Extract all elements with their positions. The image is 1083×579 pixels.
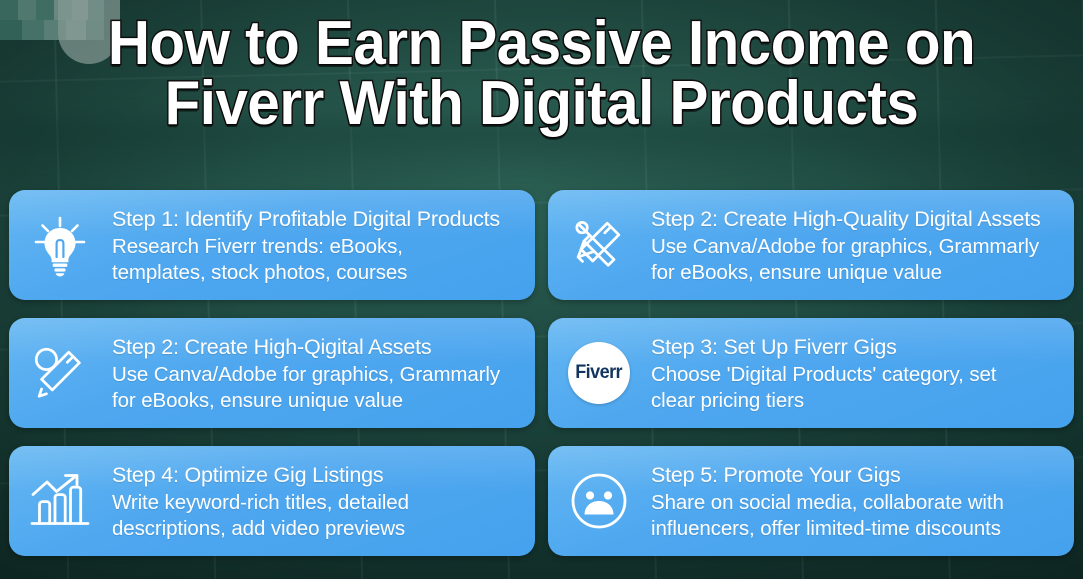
growth-chart-icon — [22, 463, 98, 539]
face-megaphone-icon — [561, 463, 637, 539]
step-card-1[interactable]: Step 1: Identify Profitable Digital Prod… — [9, 190, 535, 300]
step-card-5-body: Step 4: Optimize Gig Listings Write keyw… — [112, 461, 521, 541]
background-blur-band — [0, 120, 1083, 200]
step-card-6-description: Share on social media, collaborate with … — [651, 490, 1060, 541]
step-card-6[interactable]: Step 5: Promote Your Gigs Share on socia… — [548, 446, 1074, 556]
step-card-3[interactable]: Step 2: Create High-Qigital Assets Use C… — [9, 318, 535, 428]
step-card-5-description: Write keyword-rich titles, detailed desc… — [112, 490, 521, 541]
step-card-5-title: Step 4: Optimize Gig Listings — [112, 463, 521, 487]
poster-canvas: How to Earn Passive Income on Fiverr Wit… — [0, 0, 1083, 579]
redacted-watermark-block — [0, 0, 104, 40]
step-card-1-body: Step 1: Identify Profitable Digital Prod… — [112, 205, 521, 285]
step-card-1-title: Step 1: Identify Profitable Digital Prod… — [112, 207, 521, 231]
step-card-2-description: Use Canva/Adobe for graphics, Grammarly … — [651, 234, 1060, 285]
step-card-3-body: Step 2: Create High-Qigital Assets Use C… — [112, 333, 521, 413]
step-card-6-title: Step 5: Promote Your Gigs — [651, 463, 1060, 487]
step-card-5[interactable]: Step 4: Optimize Gig Listings Write keyw… — [9, 446, 535, 556]
step-card-1-description: Research Fiverr trends: eBooks, template… — [112, 234, 521, 285]
step-card-3-title: Step 2: Create High-Qigital Assets — [112, 335, 521, 359]
step-card-2-body: Step 2: Create High-Quality Digital Asse… — [651, 205, 1060, 285]
step-card-6-body: Step 5: Promote Your Gigs Share on socia… — [651, 461, 1060, 541]
pencil-ruler-icon — [561, 207, 637, 283]
step-card-4[interactable]: Fiverr Step 3: Set Up Fiverr Gigs Choose… — [548, 318, 1074, 428]
redacted-watermark-arc — [58, 0, 120, 64]
step-card-2-title: Step 2: Create High-Quality Digital Asse… — [651, 207, 1060, 231]
fiverr-logo-text: Fiverr — [576, 362, 623, 384]
step-card-2[interactable]: Step 2: Create High-Quality Digital Asse… — [548, 190, 1074, 300]
step-card-4-body: Step 3: Set Up Fiverr Gigs Choose 'Digit… — [651, 333, 1060, 413]
pencil-circle-icon — [22, 335, 98, 411]
fiverr-logo-icon: Fiverr — [561, 335, 637, 411]
steps-grid: Step 1: Identify Profitable Digital Prod… — [9, 190, 1074, 556]
fiverr-logo-circle: Fiverr — [568, 342, 630, 404]
page-title: How to Earn Passive Income on Fiverr Wit… — [32, 14, 1050, 133]
step-card-4-description: Choose 'Digital Products' category, set … — [651, 362, 1060, 413]
step-card-3-description: Use Canva/Adobe for graphics, Grammarly … — [112, 362, 521, 413]
step-card-4-title: Step 3: Set Up Fiverr Gigs — [651, 335, 1060, 359]
lightbulb-icon — [22, 207, 98, 283]
